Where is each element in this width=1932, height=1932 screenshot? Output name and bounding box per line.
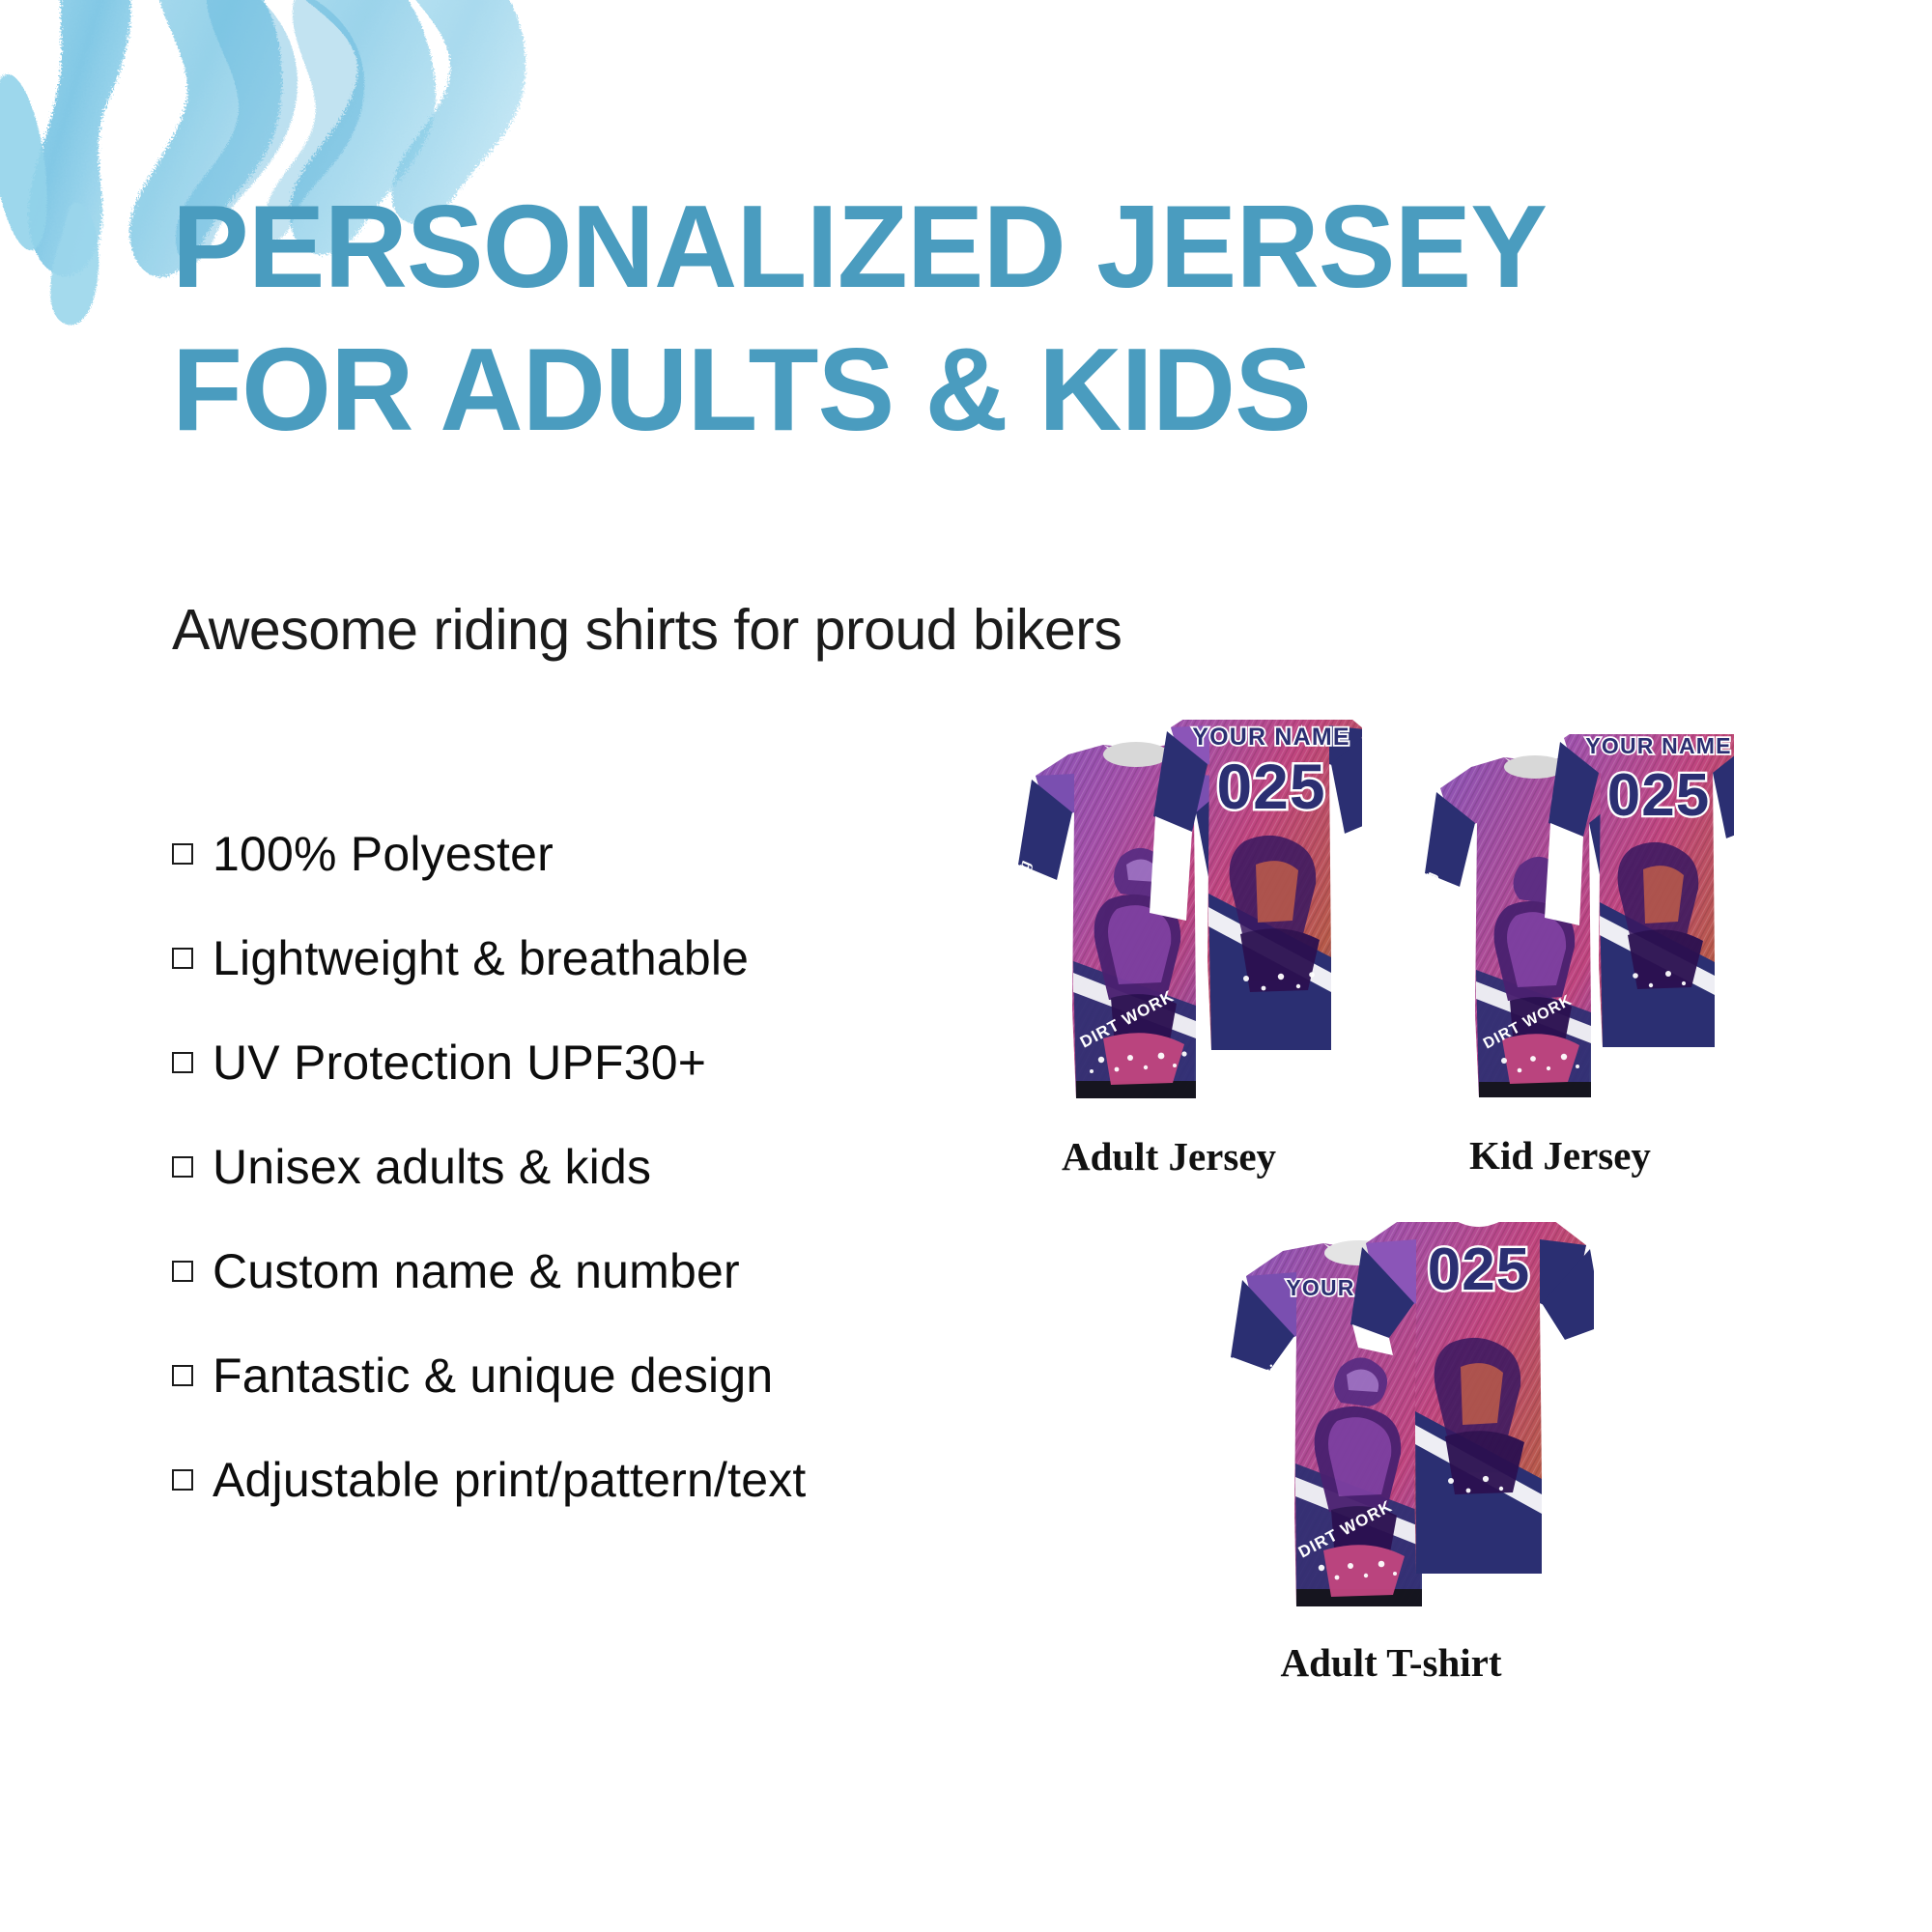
product-adult-jersey[interactable]: Racing DIRT WORK — [976, 720, 1362, 1145]
list-item: Unisex adults & kids — [172, 1139, 906, 1243]
jersey-name-text: YOUR NAME — [1192, 724, 1350, 751]
adult-tshirt-image: YOUR NAME Racing DIRT WORK — [1188, 1222, 1594, 1647]
product-adult-tshirt[interactable]: YOUR NAME Racing DIRT WORK — [1188, 1222, 1594, 1647]
jersey-number-text: 025 — [1216, 751, 1325, 822]
list-item-label: Custom name & number — [213, 1243, 740, 1299]
page-title: PERSONALIZED JERSEY FOR ADULTS & KIDS — [172, 189, 1544, 447]
feature-list: 100% Polyester Lightweight & breathable … — [172, 826, 906, 1556]
empty-checkbox-icon — [172, 1156, 193, 1178]
tshirt-number-text: 025 — [1428, 1236, 1530, 1303]
empty-checkbox-icon — [172, 948, 193, 969]
product-caption: Adult T-shirt — [1034, 1639, 1748, 1686]
empty-checkbox-icon — [172, 843, 193, 865]
jersey-number-text: 025 — [1607, 762, 1710, 829]
list-item: Adjustable print/pattern/text — [172, 1452, 906, 1556]
list-item-label: Fantastic & unique design — [213, 1348, 773, 1404]
list-item-label: Unisex adults & kids — [213, 1139, 651, 1195]
empty-checkbox-icon — [172, 1052, 193, 1073]
jersey-name-text: YOUR NAME — [1585, 734, 1731, 758]
product-caption: Kid Jersey — [1232, 1132, 1889, 1179]
empty-checkbox-icon — [172, 1469, 193, 1491]
list-item: Lightweight & breathable — [172, 930, 906, 1035]
kid-jersey-image: Racing DIRT WORK — [1386, 734, 1734, 1140]
list-item-label: UV Protection UPF30+ — [213, 1035, 706, 1091]
list-item: Custom name & number — [172, 1243, 906, 1348]
headline-line-1: PERSONALIZED JERSEY — [172, 189, 1517, 305]
adult-jersey-image: Racing DIRT WORK — [976, 720, 1362, 1145]
headline-line-2: FOR ADULTS & KIDS — [172, 332, 1517, 448]
product-kid-jersey[interactable]: Racing DIRT WORK — [1386, 734, 1734, 1140]
list-item-label: Adjustable print/pattern/text — [213, 1452, 807, 1508]
list-item: UV Protection UPF30+ — [172, 1035, 906, 1139]
list-item-label: 100% Polyester — [213, 826, 554, 882]
list-item: Fantastic & unique design — [172, 1348, 906, 1452]
subtitle: Awesome riding shirts for proud bikers — [172, 597, 1122, 663]
empty-checkbox-icon — [172, 1365, 193, 1386]
empty-checkbox-icon — [172, 1261, 193, 1282]
list-item-label: Lightweight & breathable — [213, 930, 749, 986]
list-item: 100% Polyester — [172, 826, 906, 930]
